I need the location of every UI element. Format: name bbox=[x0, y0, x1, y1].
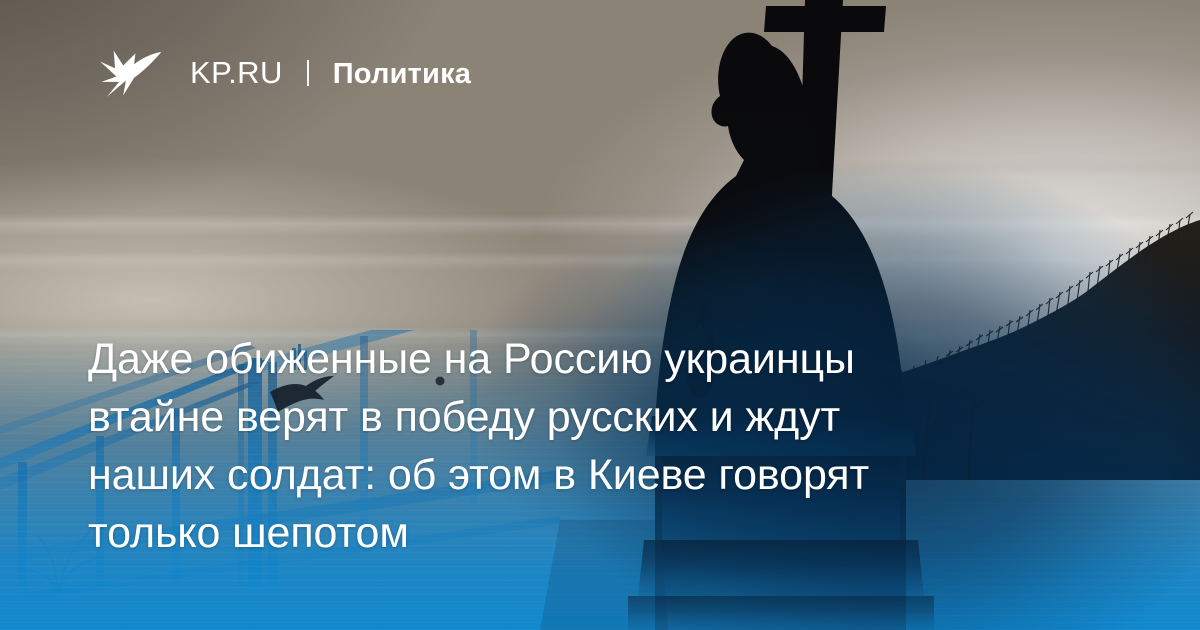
headline-line-1: Даже обиженные на Россию украинцы bbox=[88, 330, 1098, 388]
rubric-label[interactable]: Политика bbox=[333, 58, 471, 91]
brand-row: KP.RU Политика bbox=[190, 55, 471, 91]
headline-line-2: втайне верят в победу русских и ждут bbox=[88, 388, 1098, 446]
headline-line-4: только шепотом bbox=[88, 504, 1098, 562]
brand-name[interactable]: KP.RU bbox=[190, 55, 283, 91]
headline-line-3: наших солдат: об этом в Киеве говорят bbox=[88, 446, 1098, 504]
headline: Даже обиженные на Россию украинцы втайне… bbox=[88, 330, 1098, 562]
brand-separator bbox=[307, 60, 309, 86]
card-header: KP.RU Политика bbox=[0, 0, 1200, 145]
share-card: KP.RU Политика Даже обиженные на Россию … bbox=[0, 0, 1200, 630]
swallow-bird-logo-icon[interactable] bbox=[96, 37, 164, 105]
